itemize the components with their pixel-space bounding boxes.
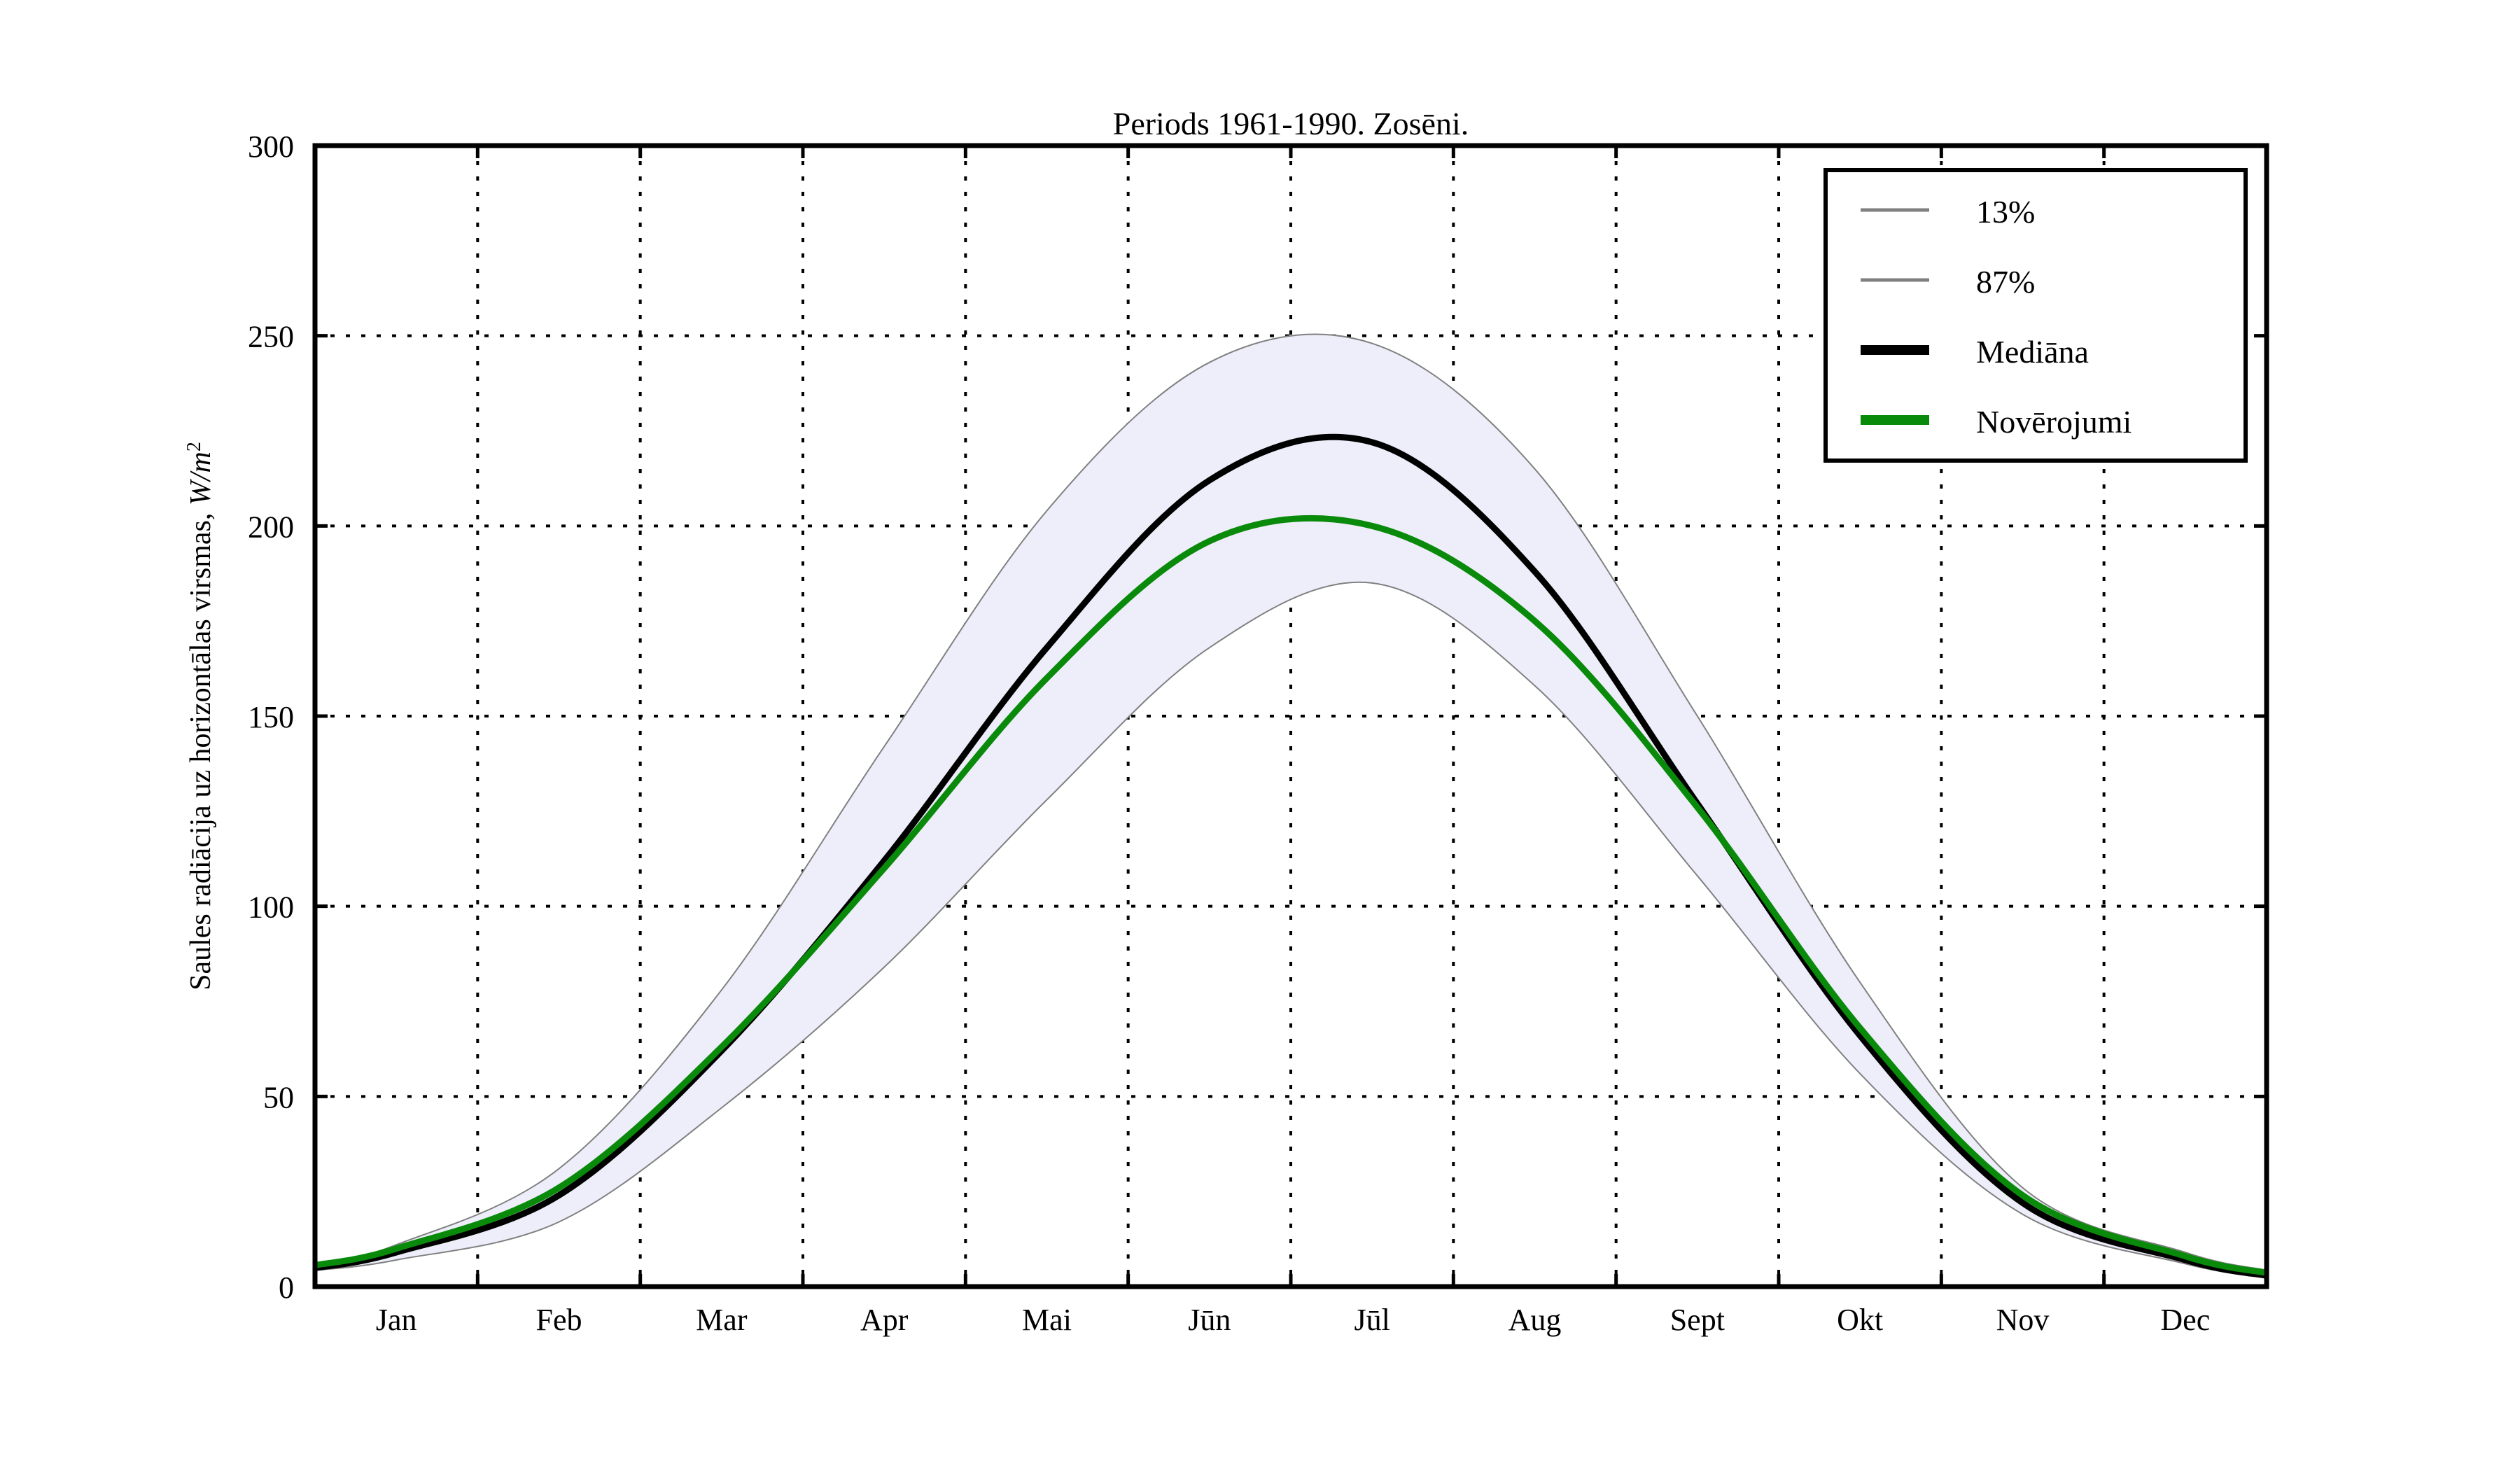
x-tick-label-jan: Jan [376,1303,417,1337]
x-tick-label-okt: Okt [1837,1303,1883,1337]
x-tick-label-apr: Apr [860,1303,909,1337]
x-tick-label-feb: Feb [536,1303,582,1337]
solar-radiation-chart: Periods 1961-1990. Zosēni. 0501001502002… [0,0,2520,1470]
x-tick-label-aug: Aug [1508,1303,1562,1337]
x-tick-label-nov: Nov [1996,1303,2050,1337]
chart-title: Periods 1961-1990. Zosēni. [1113,106,1469,141]
figure-canvas: Periods 1961-1990. Zosēni. 0501001502002… [0,0,2520,1470]
y-axis-label-math: W/m [185,451,217,505]
x-tick-label-mar: Mar [696,1303,748,1337]
y-axis-label-exponent: 2 [183,442,205,451]
y-axis-label-text: Saules radiācija uz horizontālas virsmas… [185,505,217,990]
legend-label-nov-rojumi: Novērojumi [1976,404,2131,440]
chart-legend[interactable]: 13%87%MediānaNovērojumi [1826,170,2246,461]
x-tick-label-mai: Mai [1022,1303,1072,1337]
x-tick-label-dec: Dec [2160,1303,2210,1337]
legend-label-87-: 87% [1976,264,2035,300]
y-tick-label: 150 [248,700,294,734]
legend-label-medi-na: Mediāna [1976,334,2089,370]
x-tick-label-sept: Sept [1670,1303,1725,1337]
y-tick-label: 0 [279,1270,294,1305]
y-tick-label: 200 [248,510,294,544]
legend-label-13-: 13% [1976,194,2035,230]
x-tick-label-jūn: Jūn [1188,1303,1231,1337]
y-axis-label: Saules radiācija uz horizontālas virsmas… [183,442,217,990]
y-tick-label: 50 [263,1080,294,1114]
y-tick-label: 300 [248,129,294,164]
y-tick-label: 100 [248,890,294,925]
svg-text:Saules radiācija uz horizontāl: Saules radiācija uz horizontālas virsmas… [183,442,217,990]
y-tick-label: 250 [248,320,294,354]
x-tick-label-jūl: Jūl [1354,1303,1389,1337]
